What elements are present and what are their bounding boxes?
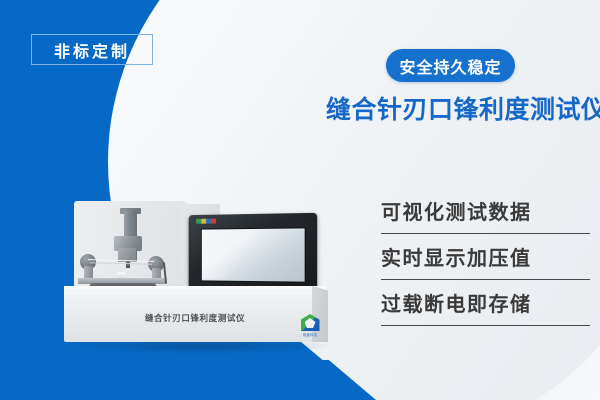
brand-logo-text: 维普科技 — [299, 332, 321, 337]
feature-item: 实时显示加压值 — [381, 246, 590, 280]
hmi-touchscreen-panel[interactable] — [189, 213, 318, 295]
feature-item-label: 过载断电即存储 — [381, 292, 590, 319]
custom-order-badge-label: 非标定制 — [54, 38, 130, 62]
fixture-test-wire-shadow — [90, 262, 152, 265]
brand-logo-shield-icon — [301, 314, 320, 331]
feature-divider — [381, 279, 590, 280]
feature-pill-badge: 安全持久稳定 — [386, 49, 515, 82]
feature-pill-label: 安全持久稳定 — [399, 54, 501, 78]
hmi-brand-strip-icon — [196, 219, 216, 224]
test-fixture — [76, 210, 180, 294]
product-machine-image: 缝合针刃口锋利度测试仪 维普科技 — [60, 196, 342, 356]
brand-logo: 维普科技 — [299, 314, 321, 338]
feature-item-label: 实时显示加压值 — [381, 246, 590, 273]
feature-list: 可视化测试数据 实时显示加压值 过载断电即存储 — [381, 200, 590, 338]
page-title: 缝合针刃口锋利度测试仪 — [326, 90, 591, 126]
hmi-screen-glare — [202, 229, 260, 279]
product-banner: 非标定制 安全持久稳定 缝合针刃口锋利度测试仪 可视化测试数据 实时显示加压值 … — [0, 0, 600, 400]
feature-item: 过载断电即存储 — [381, 292, 590, 326]
feature-item-label: 可视化测试数据 — [381, 200, 590, 227]
feature-divider — [381, 325, 590, 326]
feature-item: 可视化测试数据 — [381, 200, 590, 234]
feature-divider — [381, 233, 590, 234]
machine-front-label: 缝合针刃口锋利度测试仪 — [120, 312, 270, 324]
custom-order-badge: 非标定制 — [31, 34, 153, 65]
